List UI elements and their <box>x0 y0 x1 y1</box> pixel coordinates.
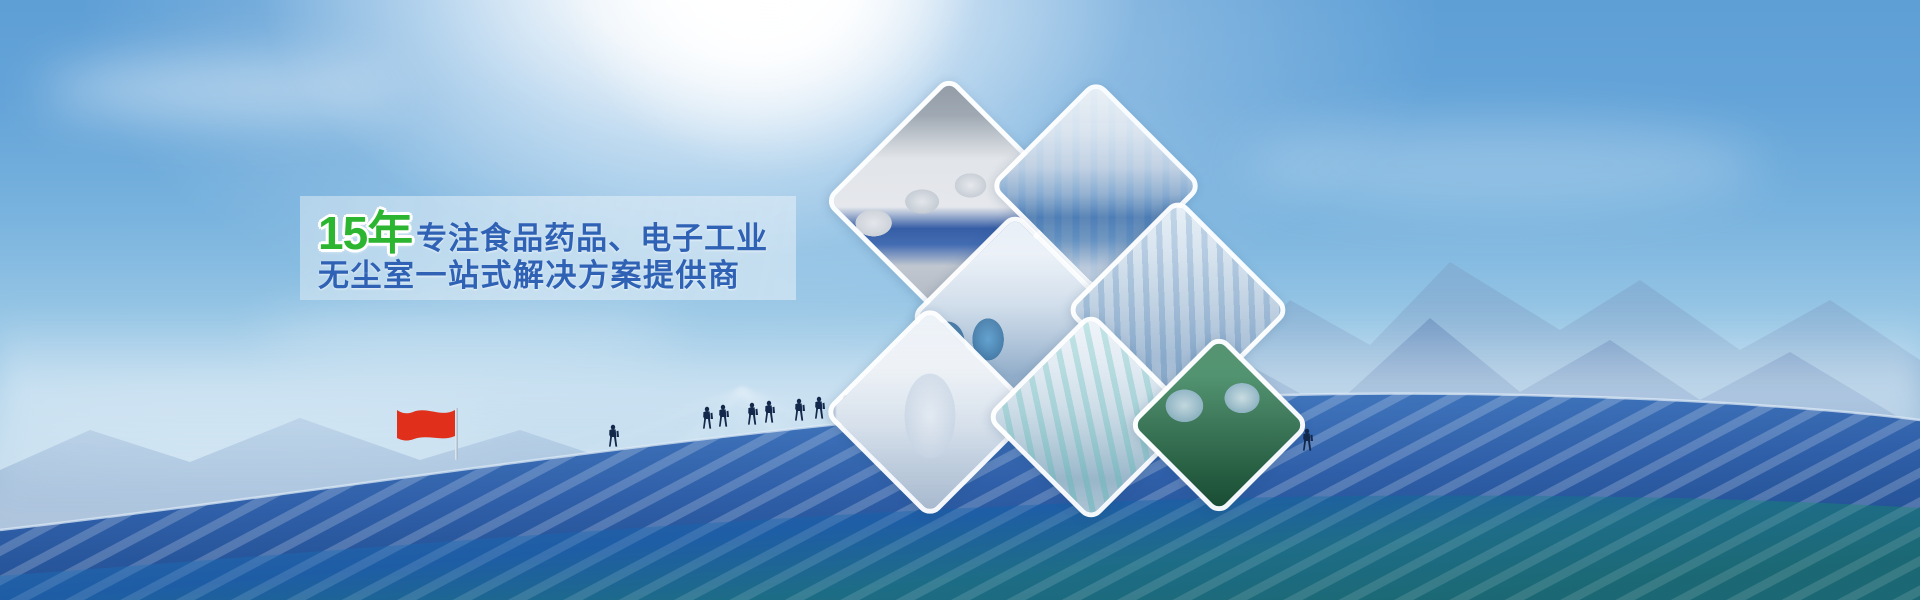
climber-silhouette <box>762 400 776 424</box>
climber-silhouette <box>606 424 620 448</box>
climber-1 <box>606 424 620 448</box>
climber-3 <box>716 404 730 428</box>
years-badge: 15年 <box>318 210 412 256</box>
climber-silhouette <box>812 396 826 420</box>
headline-line-1: 专注食品药品、电子工业 <box>416 223 768 254</box>
climber-silhouette <box>700 406 714 430</box>
climber-2 <box>700 406 714 430</box>
flag-pole <box>455 408 458 460</box>
cleanroom-photo-collage <box>840 90 1280 480</box>
climber-silhouette <box>716 404 730 428</box>
headline-block: 15年 专注食品药品、电子工业 无尘室一站式解决方案提供商 <box>318 200 788 300</box>
flag-cloth <box>397 408 455 442</box>
climber-5 <box>762 400 776 424</box>
climber-silhouette <box>745 402 759 426</box>
headline-line-2: 无尘室一站式解决方案提供商 <box>318 258 741 293</box>
climber-7 <box>812 396 826 420</box>
climber-4 <box>745 402 759 426</box>
hero-banner: 15年 专注食品药品、电子工业 无尘室一站式解决方案提供商 <box>0 0 1920 600</box>
climber-6 <box>792 398 806 422</box>
flag-left <box>455 408 458 460</box>
climber-silhouette <box>792 398 806 422</box>
